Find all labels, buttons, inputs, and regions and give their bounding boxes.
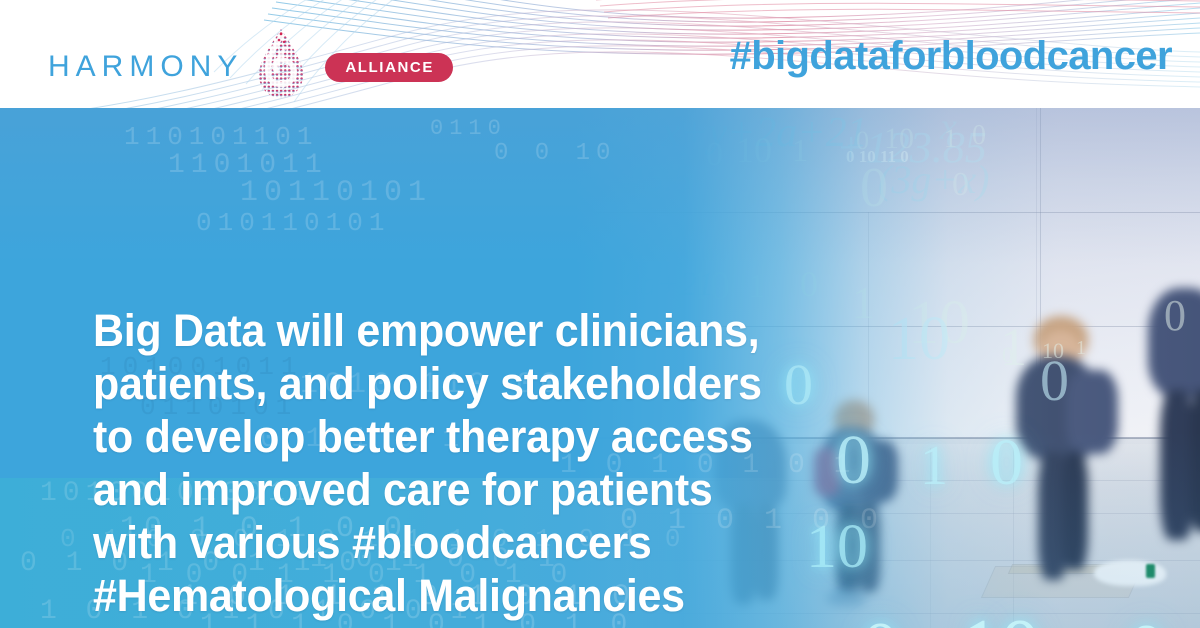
social-banner: 1+x+y+2a+21 +123.85 (3g+x) +45.5 ∫ +2a+2…	[0, 0, 1200, 628]
headline-line: to develop better therapy access	[93, 410, 762, 463]
hero-headline: Big Data will empower clinicians, patien…	[93, 304, 762, 622]
brand-logo[interactable]: HARMONY	[48, 34, 453, 100]
headline-line: with various #bloodcancers	[93, 516, 762, 569]
campaign-hashtag: #bigdataforbloodcancer	[730, 36, 1172, 76]
hero-stage: 1+x+y+2a+21 +123.85 (3g+x) +45.5 ∫ +2a+2…	[0, 108, 1200, 628]
headline-line: #Hematological Malignancies	[93, 569, 762, 622]
blood-drop-dotted-icon	[255, 28, 307, 100]
headline-line: patients, and policy stakeholders	[93, 357, 762, 410]
alliance-badge: ALLIANCE	[325, 53, 453, 82]
brand-wordmark: HARMONY	[48, 52, 243, 82]
headline-line: and improved care for patients	[93, 463, 762, 516]
headline-line: Big Data will empower clinicians,	[93, 304, 762, 357]
brand-header: HARMONY	[0, 0, 1200, 108]
